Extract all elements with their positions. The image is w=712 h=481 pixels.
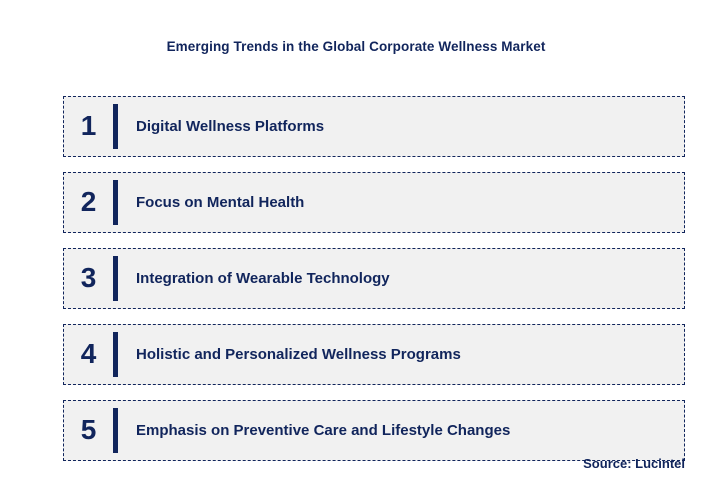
list-item[interactable]: 2 Focus on Mental Health (63, 172, 685, 233)
trend-label: Focus on Mental Health (118, 193, 684, 213)
list-item[interactable]: 5 Emphasis on Preventive Care and Lifest… (63, 400, 685, 461)
trend-label: Digital Wellness Platforms (118, 117, 684, 137)
trend-list: 1 Digital Wellness Platforms 2 Focus on … (63, 96, 685, 461)
list-item[interactable]: 3 Integration of Wearable Technology (63, 248, 685, 309)
rank-number: 5 (64, 416, 113, 446)
rank-number: 1 (64, 112, 113, 142)
rank-number: 3 (64, 264, 113, 294)
list-item[interactable]: 4 Holistic and Personalized Wellness Pro… (63, 324, 685, 385)
trends-diagram: Emerging Trends in the Global Corporate … (0, 0, 712, 481)
rank-number: 2 (64, 188, 113, 218)
trend-label: Holistic and Personalized Wellness Progr… (118, 345, 684, 365)
source-note: Source: Lucintel (583, 456, 685, 472)
trend-label: Integration of Wearable Technology (118, 269, 684, 289)
page-title: Emerging Trends in the Global Corporate … (0, 38, 712, 56)
trend-label: Emphasis on Preventive Care and Lifestyl… (118, 421, 684, 441)
list-item[interactable]: 1 Digital Wellness Platforms (63, 96, 685, 157)
rank-number: 4 (64, 340, 113, 370)
